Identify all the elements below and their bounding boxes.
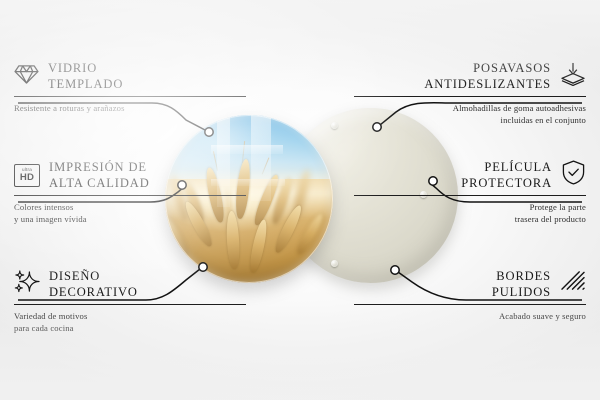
feature-subtitle-line1: Colores intensos <box>14 201 246 213</box>
feature-subtitle: Acabado suave y seguro <box>354 310 586 322</box>
feature-subtitle-line1: Almohadillas de goma autoadhesivas <box>354 102 586 114</box>
ultra-hd-badge-icon: ultra HD <box>14 164 40 187</box>
feature-subtitle-line2: incluidas en el conjunto <box>354 114 586 126</box>
feature-title-line1: BORDES <box>492 268 551 284</box>
shield-check-icon <box>561 160 586 190</box>
feature-title-line1: PELÍCULA <box>461 159 552 175</box>
feature-title-line1: POSAVASOS <box>424 60 551 76</box>
feature-title-line2: TEMPLADO <box>48 76 123 92</box>
feature-pelicula-protectora: PELÍCULA PROTECTORA Protege la parte tra… <box>354 159 586 225</box>
hd-label: HD <box>20 173 34 183</box>
divider <box>14 304 246 305</box>
feature-title-line1: VIDRIO <box>48 60 123 76</box>
feature-posavasos-antideslizantes: POSAVASOS ANTIDESLIZANTES Almohadillas d… <box>354 60 586 126</box>
feature-title-line2: PULIDOS <box>492 284 551 300</box>
diamond-icon <box>14 63 39 90</box>
sparkles-icon <box>14 270 40 299</box>
feature-subtitle: Resistente a roturas y arañazos <box>14 102 246 114</box>
connector-dot-vidrio-templado <box>205 128 213 136</box>
divider <box>354 195 586 196</box>
divider <box>14 96 246 97</box>
feature-subtitle-line2: para cada cocina <box>14 322 246 334</box>
infographic-canvas: VIDRIO TEMPLADO Resistente a roturas y a… <box>0 0 600 400</box>
feature-title-line2: DECORATIVO <box>49 284 138 300</box>
feature-title-line1: IMPRESIÓN DE <box>49 159 150 175</box>
feature-subtitle-line2: y una imagen vívida <box>14 213 246 225</box>
feature-title-line2: ANTIDESLIZANTES <box>424 76 551 92</box>
divider <box>14 195 246 196</box>
feature-subtitle-line1: Variedad de motivos <box>14 310 246 322</box>
feature-subtitle-line2: trasera del producto <box>354 213 586 225</box>
diagonal-lines-icon <box>560 270 586 298</box>
arrow-down-onto-base-icon <box>560 62 586 91</box>
feature-subtitle-line1: Protege la parte <box>354 201 586 213</box>
feature-diseno-decorativo: DISEÑO DECORATIVO Variedad de motivos pa… <box>14 268 246 334</box>
divider <box>354 96 586 97</box>
divider <box>354 304 586 305</box>
feature-impresion-alta-calidad: ultra HD IMPRESIÓN DE ALTA CALIDAD Color… <box>14 159 246 225</box>
feature-title-line1: DISEÑO <box>49 268 138 284</box>
feature-bordes-pulidos: BORDES PULIDOS Acabado suave y seguro <box>354 268 586 322</box>
feature-title-line2: PROTECTORA <box>461 175 552 191</box>
feature-vidrio-templado: VIDRIO TEMPLADO Resistente a roturas y a… <box>14 60 246 114</box>
feature-title-line2: ALTA CALIDAD <box>49 175 150 191</box>
